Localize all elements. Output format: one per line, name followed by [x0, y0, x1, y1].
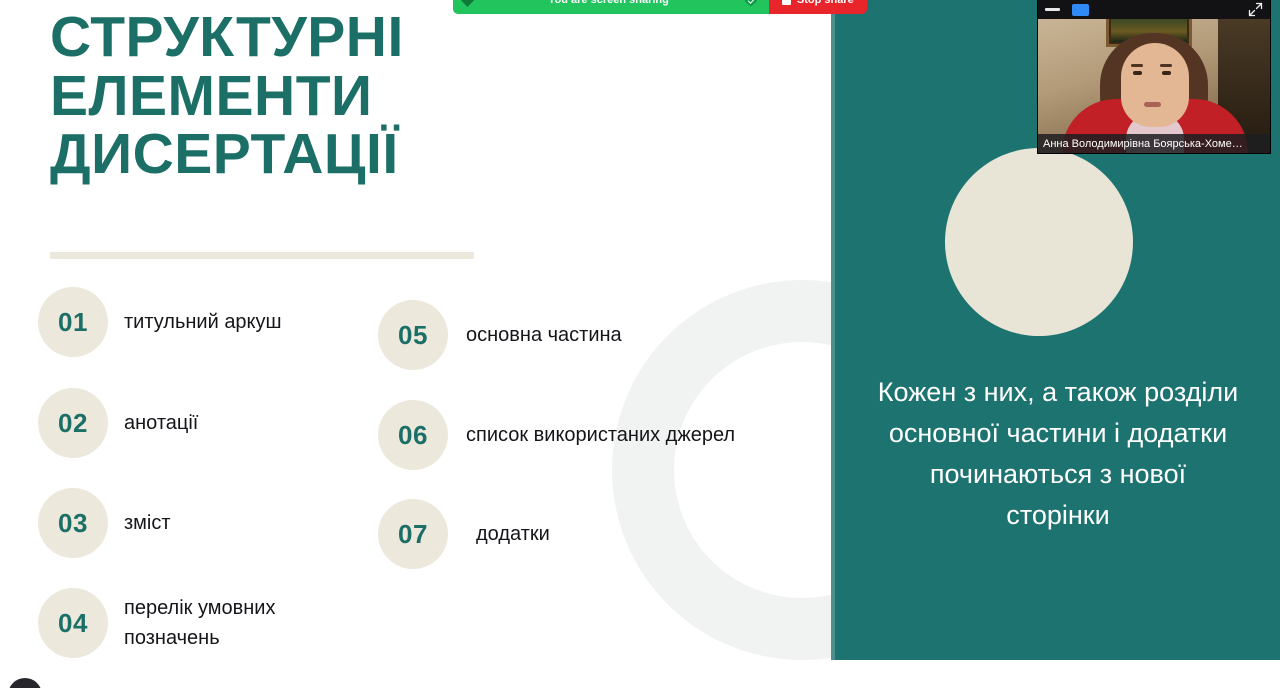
shield-check-icon[interactable] [745, 0, 757, 7]
video-person-eye-left [1133, 71, 1142, 75]
screen-share-view: СТРУКТУРНІ ЕЛЕМЕНТИ ДИСЕРТАЦІЇ 01 титуль… [0, 0, 1280, 688]
list-item: 06 список використаних джерел [378, 400, 738, 470]
item-number-badge: 05 [378, 300, 448, 370]
item-number-badge: 03 [38, 488, 108, 558]
list-column-right: 05 основна частина 06 список використани… [378, 300, 738, 600]
item-number-badge: 04 [38, 588, 108, 658]
stop-square-icon [782, 0, 791, 5]
expand-arrows-icon[interactable] [1248, 2, 1263, 17]
item-label: список використаних джерел [466, 420, 735, 450]
video-person-face [1121, 43, 1189, 127]
video-person-eye-right [1162, 71, 1171, 75]
list-column-left: 01 титульний аркуш 02 анотації 03 зміст … [38, 287, 368, 688]
item-number-badge: 02 [38, 388, 108, 458]
screen-share-toolbar: You are screen sharing Stop share [453, 0, 783, 14]
view-mode-icon[interactable] [1072, 4, 1089, 16]
list-item: 01 титульний аркуш [38, 287, 368, 357]
list-item: 03 зміст [38, 488, 368, 558]
decorative-circle [945, 148, 1133, 336]
video-person-brow-left [1131, 64, 1143, 67]
item-label: анотації [124, 408, 198, 438]
item-label: основна частина [466, 320, 622, 350]
item-label: титульний аркуш [124, 307, 282, 337]
item-number-badge: 01 [38, 287, 108, 357]
item-label: додатки [476, 519, 550, 549]
minimize-icon[interactable] [1045, 8, 1060, 11]
video-person-mouth [1144, 102, 1161, 107]
page-title: СТРУКТУРНІ ЕЛЕМЕНТИ ДИСЕРТАЦІЇ [50, 8, 520, 184]
video-person-brow-right [1160, 64, 1172, 67]
participant-name-label: Анна Володимирівна Боярська-Хоме… [1038, 134, 1270, 153]
item-number-badge: 07 [378, 499, 448, 569]
list-item: 05 основна частина [378, 300, 738, 370]
webcam-titlebar [1038, 0, 1270, 19]
sharing-status-label: You are screen sharing [548, 0, 669, 6]
title-divider [50, 252, 474, 259]
list-item: 04 перелік умовних позначень [38, 588, 368, 658]
stop-share-button[interactable]: Stop share [769, 0, 867, 14]
bottom-white-strip [835, 660, 1280, 688]
item-label: зміст [124, 508, 171, 538]
item-number-badge: 06 [378, 400, 448, 470]
list-item: 07 додатки [378, 499, 738, 569]
webcam-tile[interactable]: Анна Володимирівна Боярська-Хоме… [1038, 0, 1270, 153]
stop-share-label: Stop share [797, 0, 854, 6]
list-item: 02 анотації [38, 388, 368, 458]
sharing-status-pill[interactable]: You are screen sharing [453, 0, 769, 14]
item-label: перелік умовних позначень [124, 593, 368, 653]
panel-note-text: Кожен з них, а також розділи основної ча… [877, 372, 1239, 536]
presentation-slide: СТРУКТУРНІ ЕЛЕМЕНТИ ДИСЕРТАЦІЇ 01 титуль… [0, 0, 835, 688]
webcam-video-feed: Анна Володимирівна Боярська-Хоме… [1038, 19, 1270, 153]
diamond-icon [461, 0, 474, 6]
